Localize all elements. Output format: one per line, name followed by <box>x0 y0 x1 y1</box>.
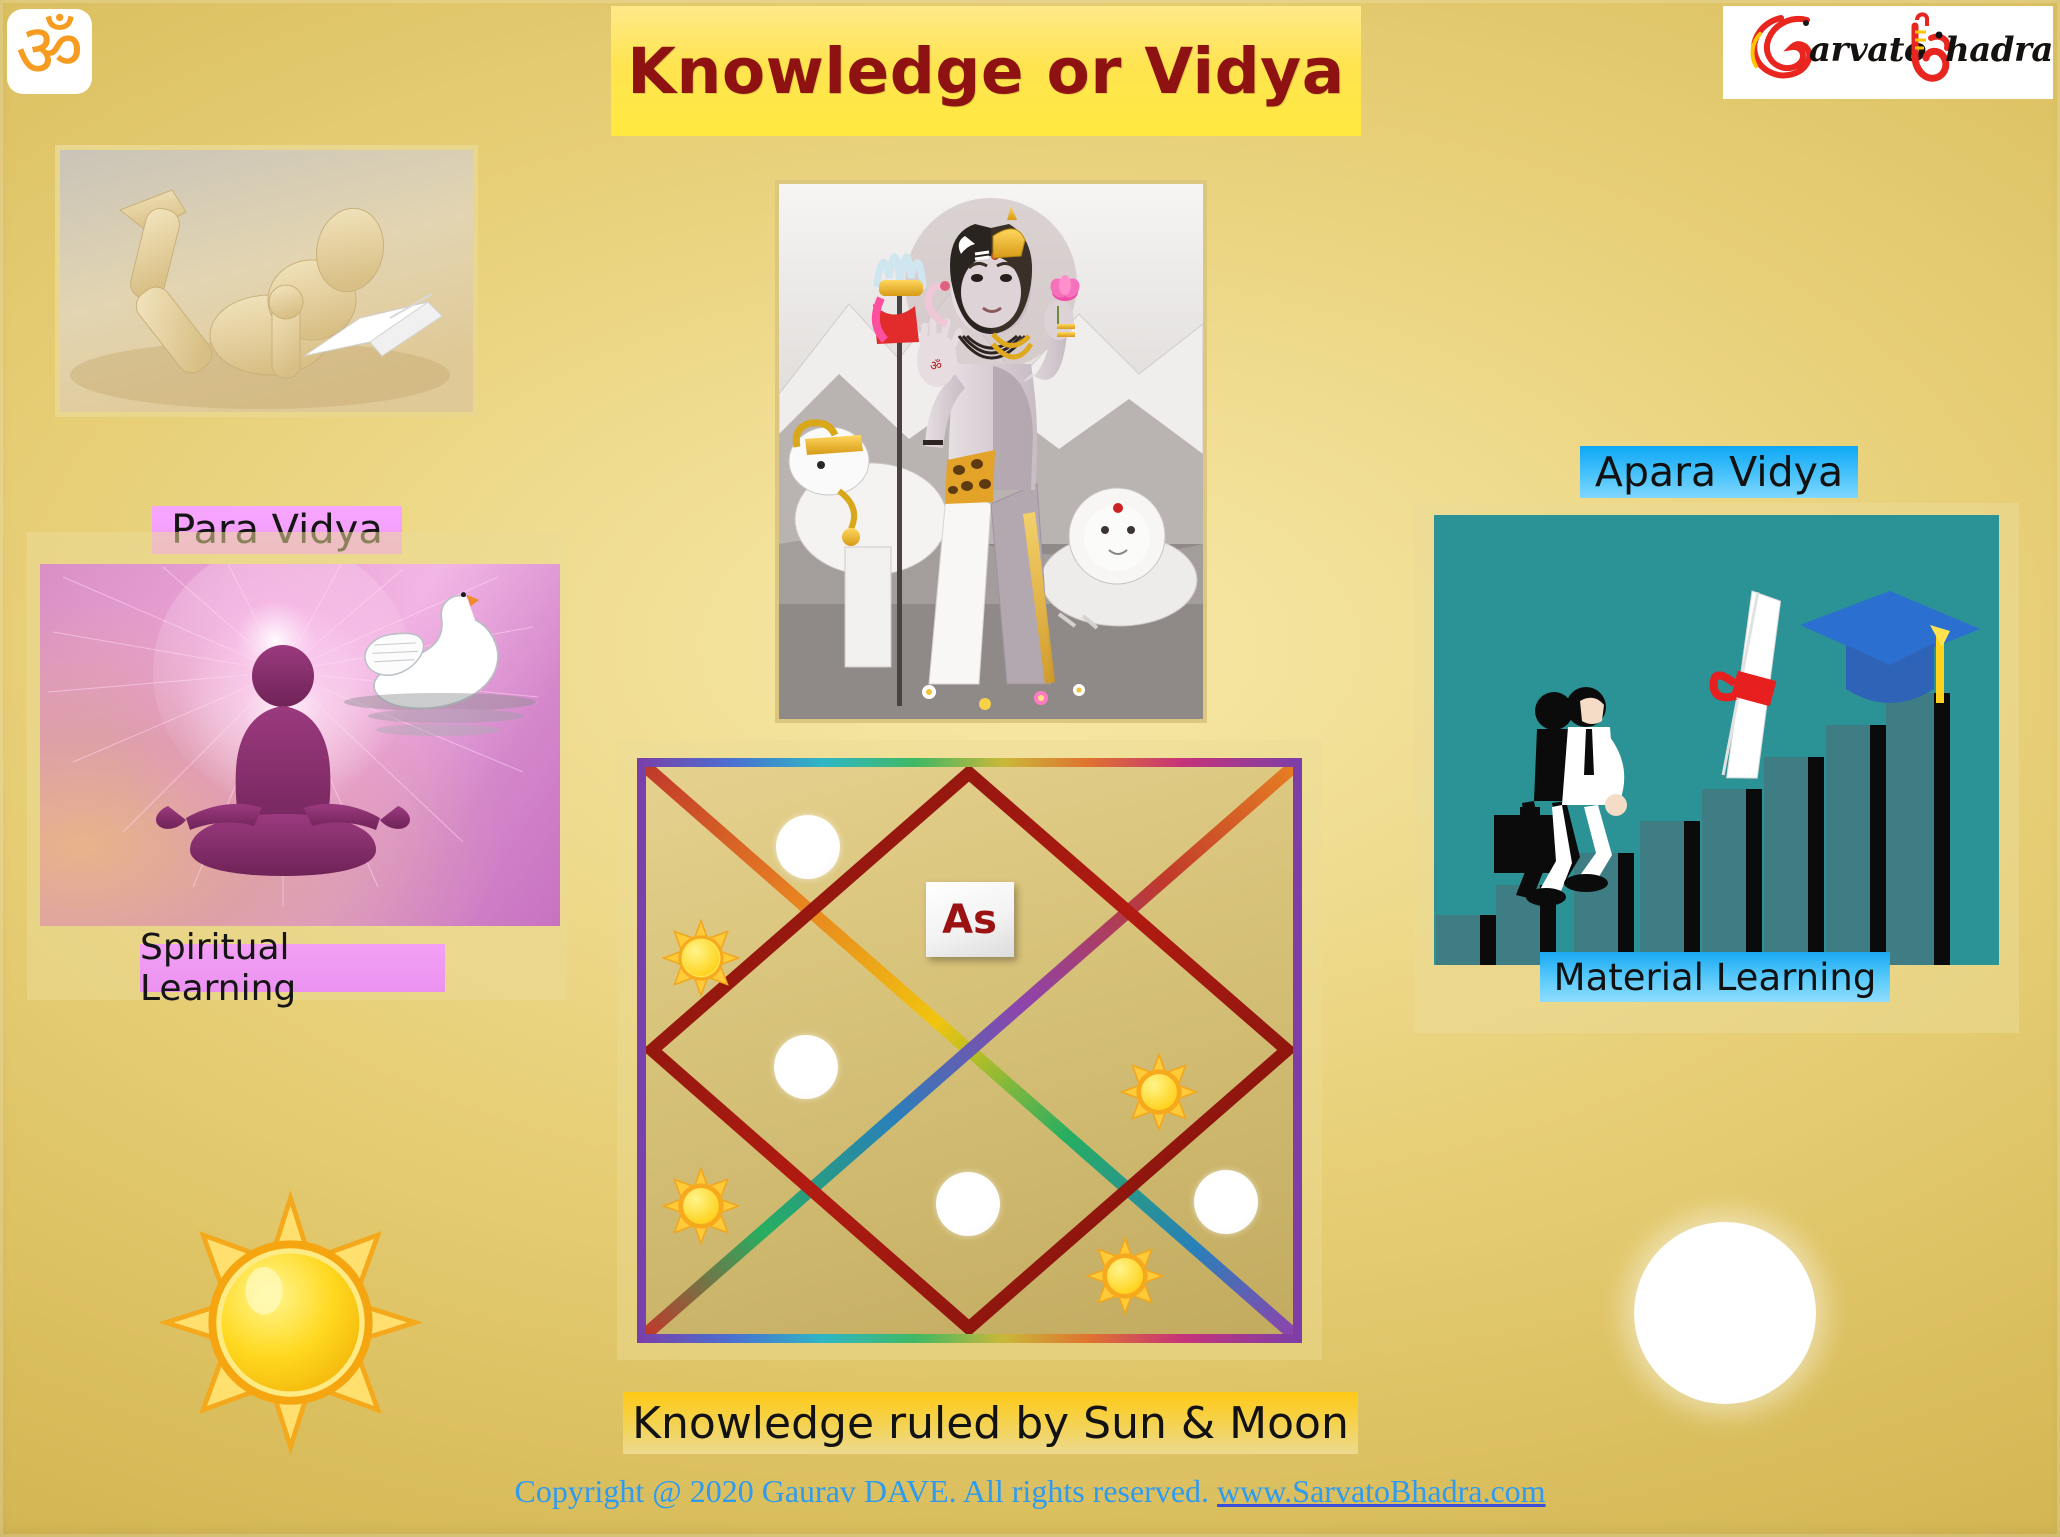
moon-icon <box>1634 1222 1816 1404</box>
sun-icon <box>158 1190 423 1455</box>
chart-caption: Knowledge ruled by Sun & Moon <box>623 1392 1358 1454</box>
copyright-footer: Copyright @ 2020 Gaurav DAVE. All rights… <box>0 1473 2060 1510</box>
chart-lines <box>646 767 1293 1334</box>
material-learning-label: Material Learning <box>1540 952 1890 1002</box>
moon-icon <box>774 1035 838 1099</box>
kundali-chart[interactable]: As <box>637 758 1302 1343</box>
slide-canvas: ॐ Knowledge or Vidya arvato hadra <box>0 0 2060 1537</box>
sun-icon <box>662 919 740 997</box>
brand-logo[interactable]: arvato hadra <box>1723 6 2053 99</box>
moon-icon <box>776 815 840 879</box>
sun-icon <box>1086 1237 1164 1315</box>
sun-icon <box>1120 1053 1198 1131</box>
moon-icon <box>936 1172 1000 1236</box>
chart-inner: As <box>646 767 1293 1334</box>
career-ladder-illustration <box>1434 515 1999 965</box>
mannequin-illustration <box>60 150 473 412</box>
ardhanarishvara-image: ॐ <box>775 180 1207 723</box>
apara-vidya-label: Apara Vidya <box>1580 446 1858 498</box>
spiritual-learning-text: Spiritual Learning <box>140 927 445 1009</box>
title-banner: Knowledge or Vidya <box>611 6 1361 136</box>
svg-text:ॐ: ॐ <box>930 359 942 374</box>
logo-word-bhadra: hadra <box>1945 30 2053 70</box>
om-badge: ॐ <box>7 9 92 94</box>
website-link[interactable]: www.SarvatoBhadra.com <box>1217 1473 1546 1509</box>
ascendant-label: As <box>942 897 997 943</box>
chart-caption-text: Knowledge ruled by Sun & Moon <box>632 1398 1349 1449</box>
apara-vidya-text: Apara Vidya <box>1595 448 1843 496</box>
spiritual-learning-label: Spiritual Learning <box>140 944 445 992</box>
copyright-text: Copyright @ 2020 Gaurav DAVE. All rights… <box>514 1473 1217 1509</box>
moon-icon <box>1194 1170 1258 1234</box>
material-learning-photo <box>1434 515 1999 965</box>
spiritual-meditation-photo <box>40 564 560 926</box>
chart-rainbow-border: As <box>637 758 1302 1343</box>
sun-icon <box>662 1167 740 1245</box>
om-icon: ॐ <box>16 16 84 86</box>
page-title: Knowledge or Vidya <box>627 35 1345 108</box>
reading-mannequin-photo <box>55 145 478 417</box>
ascendant-box[interactable]: As <box>926 882 1014 957</box>
kundali-chart-panel: As <box>617 740 1322 1360</box>
deity-illustration: ॐ <box>779 184 1203 719</box>
meditation-swan-illustration <box>40 564 560 926</box>
material-learning-text: Material Learning <box>1554 956 1877 999</box>
